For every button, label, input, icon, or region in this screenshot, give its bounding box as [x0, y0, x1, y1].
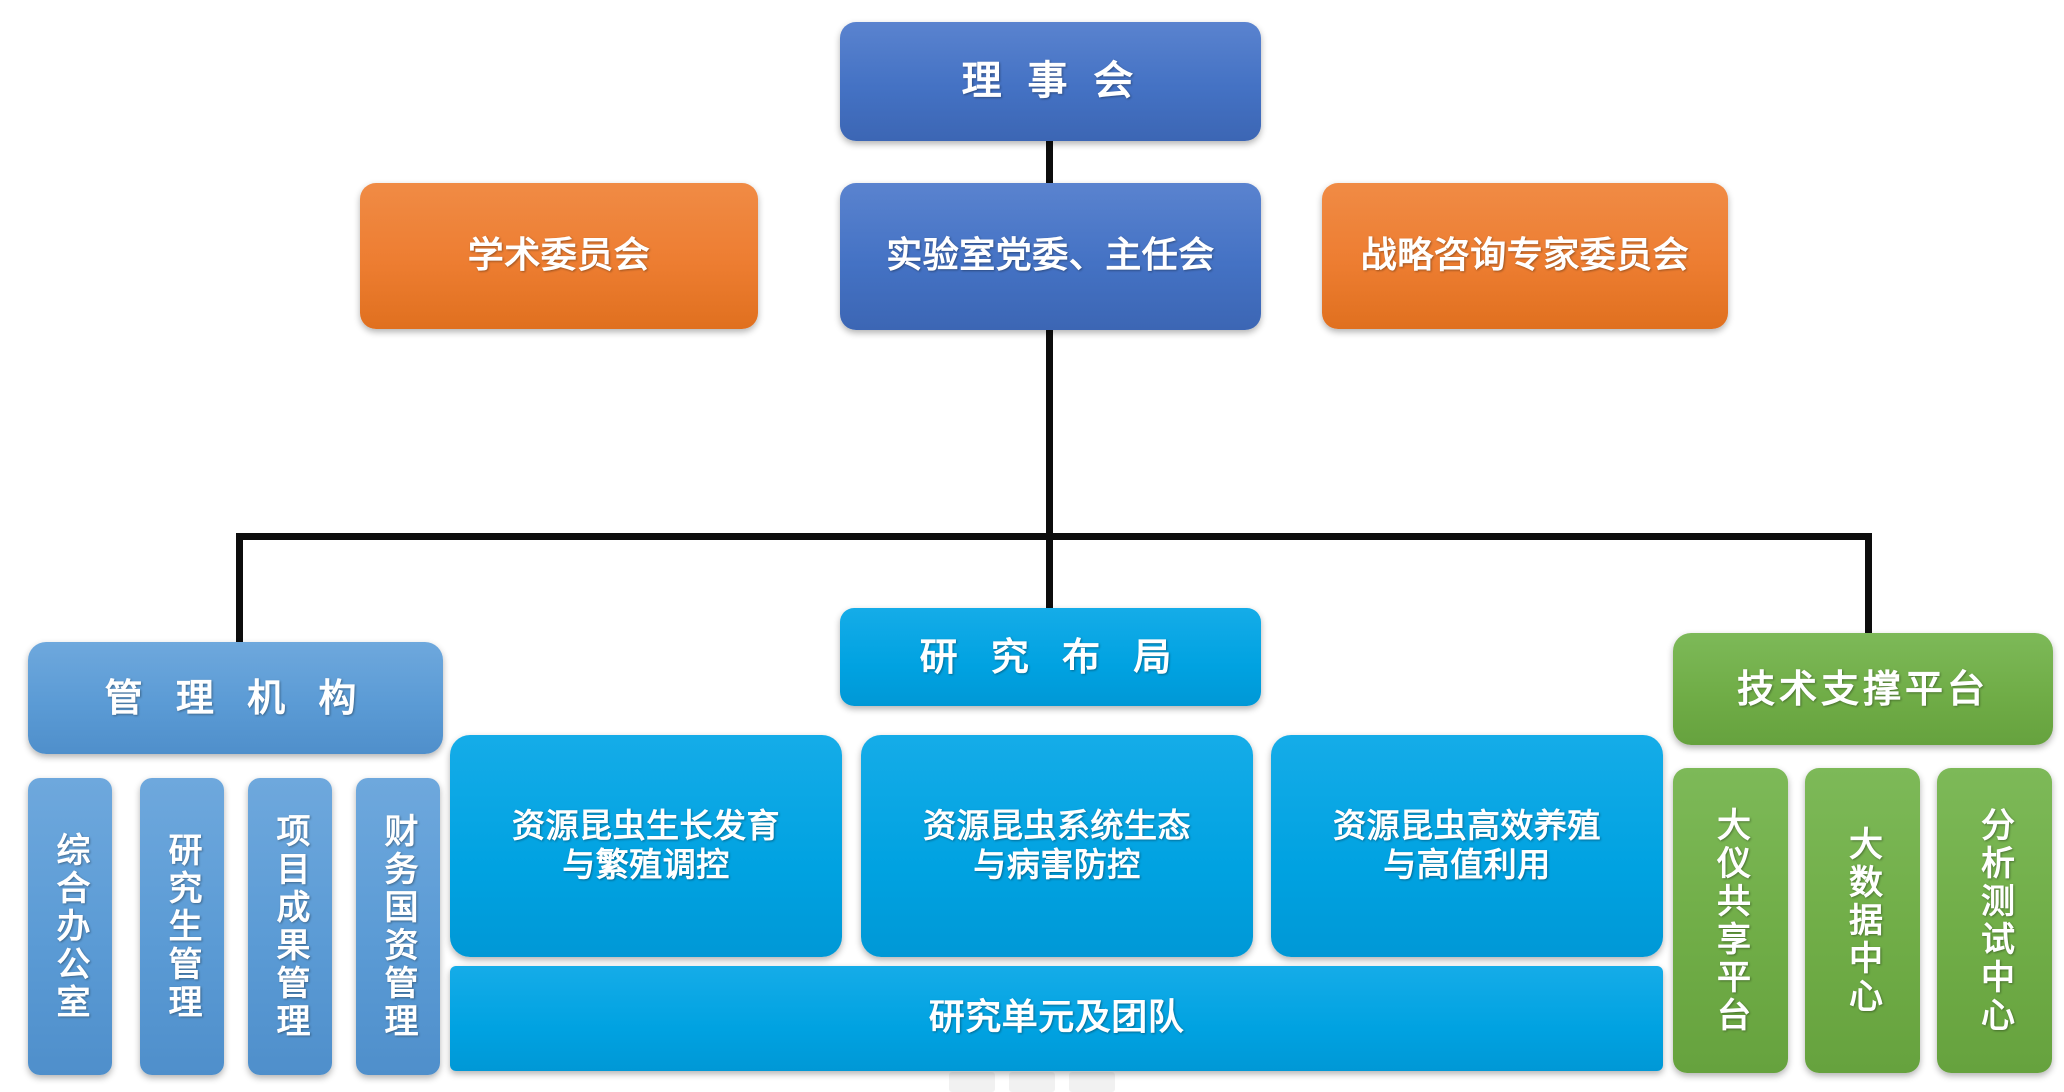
connector-main-bus: [236, 533, 1872, 540]
research-units-teams-label: 研究单元及团队: [929, 997, 1185, 1039]
node-board[interactable]: 理 事 会: [840, 22, 1261, 141]
platform-item-1[interactable]: 大数据中心: [1805, 768, 1920, 1073]
management-item-2[interactable]: 项目成果管理: [248, 778, 332, 1075]
node-lab-party-director-label: 实验室党委、主任会: [886, 235, 1215, 277]
management-item-0[interactable]: 综合办公室: [28, 778, 112, 1075]
watermark-block: [949, 1072, 995, 1092]
group-header-platform-label: 技术支撑平台: [1737, 667, 1989, 712]
group-header-management-label: 管 理 机 构: [105, 676, 367, 721]
group-header-management[interactable]: 管 理 机 构: [28, 642, 443, 754]
connector-bus-to-research: [1046, 533, 1053, 608]
research-direction-1-line1: 资源昆虫系统生态: [923, 807, 1191, 846]
research-direction-0-line1: 资源昆虫生长发育: [512, 807, 780, 846]
platform-item-0[interactable]: 大仪共享平台: [1673, 768, 1788, 1073]
management-item-2-label: 项目成果管理: [273, 813, 307, 1041]
watermark-block: [1069, 1072, 1115, 1092]
management-item-0-label: 综合办公室: [53, 832, 87, 1022]
research-units-teams-bar[interactable]: 研究单元及团队: [450, 966, 1663, 1071]
research-direction-2[interactable]: 资源昆虫高效养殖 与高值利用: [1271, 735, 1663, 957]
connector-director-down: [1046, 296, 1053, 538]
management-item-1-label: 研究生管理: [165, 832, 199, 1022]
platform-item-2-label: 分析测试中心: [1978, 807, 2012, 1035]
node-strategy-expert-committee-label: 战略咨询专家委员会: [1361, 235, 1690, 277]
research-direction-1[interactable]: 资源昆虫系统生态 与病害防控: [861, 735, 1253, 957]
platform-item-0-label: 大仪共享平台: [1714, 807, 1748, 1035]
management-item-1[interactable]: 研究生管理: [140, 778, 224, 1075]
node-lab-party-director[interactable]: 实验室党委、主任会: [840, 183, 1261, 330]
management-item-3[interactable]: 财务国资管理: [356, 778, 440, 1075]
research-direction-0[interactable]: 资源昆虫生长发育 与繁殖调控: [450, 735, 842, 957]
connector-bus-to-platform: [1865, 533, 1872, 643]
watermark-block: [1009, 1072, 1055, 1092]
group-header-research-label: 研 究 布 局: [920, 635, 1182, 680]
group-header-platform[interactable]: 技术支撑平台: [1673, 633, 2053, 745]
research-direction-0-line2: 与繁殖调控: [562, 846, 730, 885]
node-academic-committee[interactable]: 学术委员会: [360, 183, 758, 329]
research-direction-1-line2: 与病害防控: [973, 846, 1141, 885]
research-direction-2-line1: 资源昆虫高效养殖: [1333, 807, 1601, 846]
org-chart-canvas: 理 事 会 学术委员会 实验室党委、主任会 战略咨询专家委员会 管 理 机 构 …: [0, 0, 2064, 1092]
platform-item-2[interactable]: 分析测试中心: [1937, 768, 2052, 1073]
platform-item-1-label: 大数据中心: [1846, 826, 1880, 1016]
connector-bus-to-management: [236, 533, 243, 643]
research-direction-2-line2: 与高值利用: [1383, 846, 1551, 885]
node-strategy-expert-committee[interactable]: 战略咨询专家委员会: [1322, 183, 1728, 329]
node-academic-committee-label: 学术委员会: [468, 235, 651, 277]
group-header-research[interactable]: 研 究 布 局: [840, 608, 1261, 706]
management-item-3-label: 财务国资管理: [381, 813, 415, 1041]
node-board-label: 理 事 会: [962, 58, 1140, 105]
